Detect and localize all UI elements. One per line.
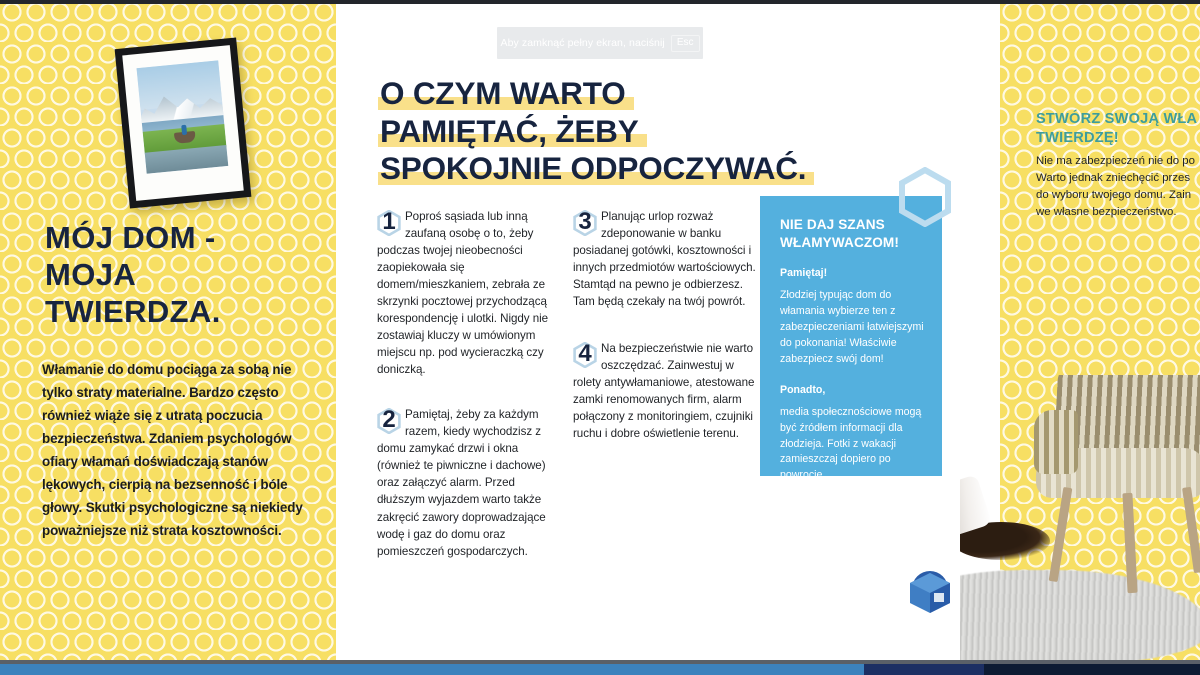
main-headline-line-1: O CZYM WARTO [378,76,628,112]
picture-frame [115,38,252,209]
armchair-leg [1182,487,1200,573]
tip-number: 1 [377,208,401,235]
main-headline-line-2: PAMIĘTAĆ, ŻEBY [378,114,641,150]
top-dark-strip [0,0,1200,4]
progress-bar-secondary [864,664,984,675]
tip-text: Pamiętaj, żeby za każdym razem, kiedy wy… [377,406,563,559]
callout-body-2: media społecznościowe mogą być źródłem i… [780,405,924,484]
right-panel-body: Nie ma zabezpieczeń nie do po Warto jedn… [1036,153,1200,221]
hexagon-number-icon: 1 [377,208,401,236]
tip-text: Na bezpieczeństwie nie warto oszczędzać.… [573,340,759,442]
left-body-paragraph: Włamanie do domu pociąga za sobą nie tyl… [42,358,310,542]
tip-number: 2 [377,406,401,433]
left-headline-line-1: MÓJ DOM - [42,222,219,254]
right-body-line-2: Warto jednak zniechęcić przes [1036,170,1200,187]
tips-column-right: 3 Planując urlop rozważ zdeponowanie w b… [573,208,759,464]
left-headline-line-2: MOJA [42,259,139,291]
interior-scene-photo [960,375,1200,660]
presentation-slide: Aby zamknąć pełny ekran, naciśnij Esc MÓ… [0,0,1200,675]
hexagon-number-icon: 4 [573,340,597,368]
right-panel-headline: STWÓRZ SWOJĄ WŁA TWIERDZĘ! [1036,110,1200,149]
right-body-line-3: do wyboru twojego domu. Zain [1036,187,1200,204]
hexagon-number-icon: 2 [377,406,401,434]
left-headline: MÓJ DOM - MOJA TWIERDZA. [42,222,332,334]
tip-item: 2 Pamiętaj, żeby za każdym razem, kiedy … [377,406,563,559]
tip-number: 4 [573,340,597,367]
armchair-arm [1034,410,1078,474]
tips-column-left: 1 Poproś sąsiada lub inną zaufaną osobę … [377,208,563,582]
callout-lead-2: Ponadto, [780,384,924,396]
tip-text: Poproś sąsiada lub inną zaufaną osobę o … [377,208,563,378]
callout-body-1: Złodziej typując dom do włamania wybierz… [780,288,924,367]
frame-border [115,38,252,209]
frame-mat [122,45,243,201]
tip-item: 4 Na bezpieczeństwie nie warto oszczędza… [573,340,759,442]
tip-item: 1 Poproś sąsiada lub inną zaufaną osobę … [377,208,563,378]
house-lock-icon [898,553,962,615]
armchair-leg [1049,487,1073,582]
callout-lead-1: Pamiętaj! [780,267,924,279]
main-headline: O CZYM WARTO PAMIĘTAĆ, ŻEBY SPOKOJNIE OD… [378,76,848,189]
main-headline-line-3: SPOKOJNIE ODPOCZYWAĆ. [378,151,808,187]
tip-text: Planując urlop rozważ zdeponowanie w ban… [573,208,759,310]
right-headline-line-1: STWÓRZ SWOJĄ WŁA [1036,110,1200,129]
right-headline-line-2: TWIERDZĘ! [1036,129,1200,148]
hexagon-outline-icon [897,167,953,227]
fullscreen-hint-banner: Aby zamknąć pełny ekran, naciśnij Esc [497,27,703,59]
progress-bar-fill [0,664,864,675]
landscape-photo [137,60,229,173]
hexagon-number-icon: 3 [573,208,597,236]
right-body-line-1: Nie ma zabezpieczeń nie do po [1036,153,1200,170]
tip-number: 3 [573,208,597,235]
right-body-line-4: we własne bezpieczeństwo. [1036,204,1200,221]
shag-rug [960,570,1200,660]
progress-bar-top-shadow [0,660,1200,664]
esc-key-badge: Esc [671,35,700,52]
left-headline-line-3: TWIERDZA. [42,296,224,328]
fullscreen-hint-text: Aby zamknąć pełny ekran, naciśnij [500,37,664,49]
tip-item: 3 Planując urlop rozważ zdeponowanie w b… [573,208,759,310]
callout-box: NIE DAJ SZANS WŁAMYWACZOM! Pamiętaj! Zło… [760,196,942,476]
